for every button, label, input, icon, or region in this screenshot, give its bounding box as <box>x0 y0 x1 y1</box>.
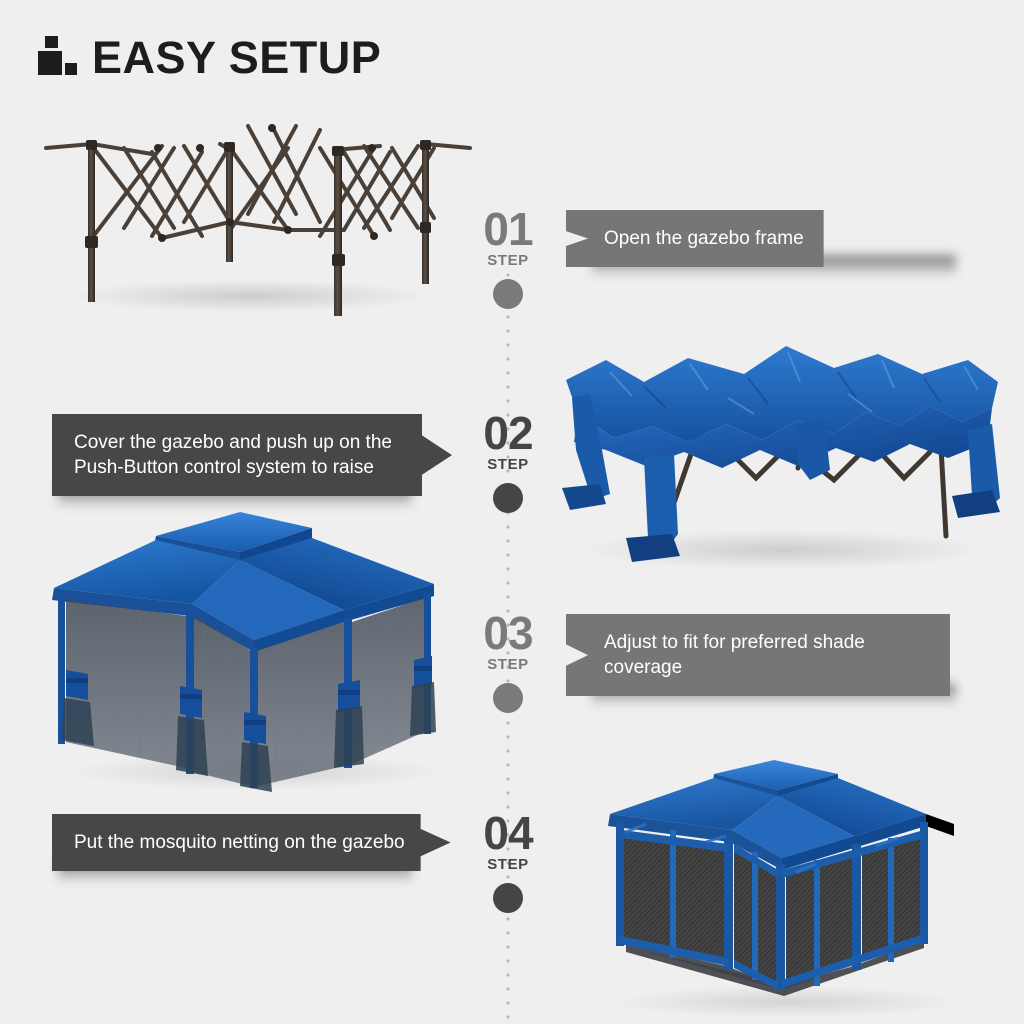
gazebo-frame-unfolded-image <box>34 118 474 318</box>
step-4-number: 04 <box>472 812 544 854</box>
callout-step-2-text: Cover the gazebo and push up on the Push… <box>52 414 452 496</box>
gazebo-with-mosquito-netting-image <box>586 752 986 1024</box>
step-marker-2: 02 STEP <box>472 412 544 513</box>
page-header: EASY SETUP <box>38 34 381 80</box>
step-marker-1: 01 STEP <box>472 208 544 309</box>
callout-step-4: Put the mosquito netting on the gazebo <box>52 814 452 871</box>
step-4-dot <box>493 883 523 913</box>
step-2-dot <box>493 483 523 513</box>
page-title: EASY SETUP <box>92 35 381 80</box>
step-2-number: 02 <box>472 412 544 454</box>
step-1-dot <box>493 279 523 309</box>
step-1-number: 01 <box>472 208 544 250</box>
callout-step-1: Open the gazebo frame <box>566 210 950 267</box>
step-3-number: 03 <box>472 612 544 654</box>
callout-step-2: Cover the gazebo and push up on the Push… <box>52 414 452 496</box>
squares-logo-icon <box>38 34 78 80</box>
callout-step-4-text: Put the mosquito netting on the gazebo <box>52 814 451 871</box>
callout-step-3-text: Adjust to fit for preferred shade covera… <box>566 614 950 696</box>
infographic-canvas: EASY SETUP <box>0 0 1024 1024</box>
step-3-dot <box>493 683 523 713</box>
gazebo-canopy-draped-image <box>548 338 1008 583</box>
callout-step-1-text: Open the gazebo frame <box>566 210 824 267</box>
callout-step-3: Adjust to fit for preferred shade covera… <box>566 614 950 696</box>
gazebo-raised-with-curtains-image <box>44 500 464 800</box>
step-marker-4: 04 STEP <box>472 812 544 913</box>
step-marker-3: 03 STEP <box>472 612 544 713</box>
